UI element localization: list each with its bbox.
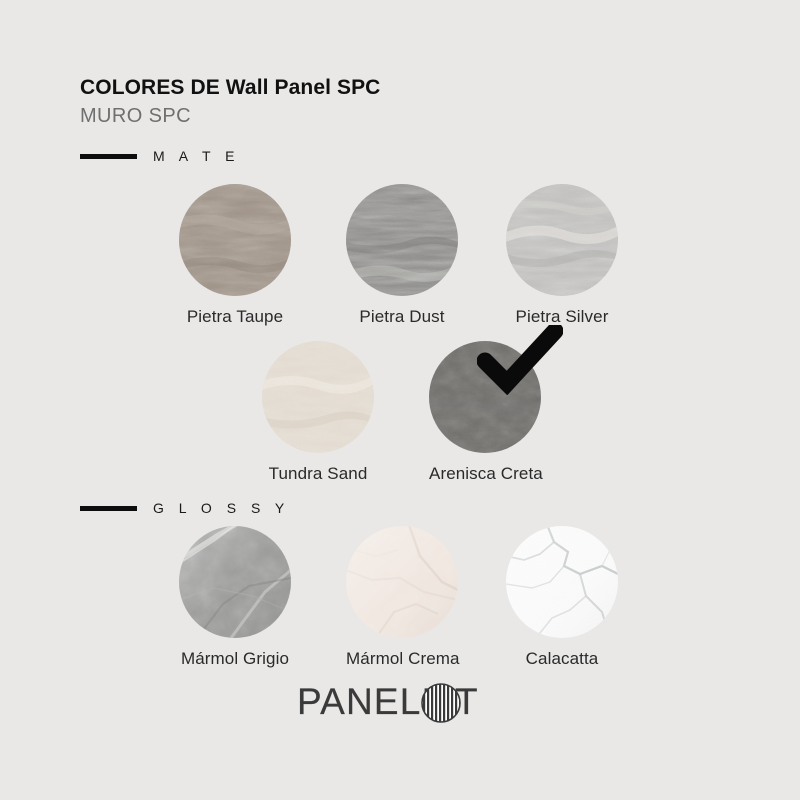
swatch-tundra-sand[interactable]: Tundra Sand (262, 341, 374, 484)
swatch-pietra-silver[interactable]: Pietra Silver (506, 184, 618, 327)
swatch-texture-calacatta[interactable] (506, 526, 618, 638)
swatch-marmol-grigio[interactable]: Mármol Grigio (179, 526, 291, 669)
swatch-marmol-crema[interactable]: Mármol Crema (346, 526, 458, 669)
swatch-texture-tundra-sand[interactable] (262, 341, 374, 453)
paneldot-logo-icon: PANELD T (297, 682, 503, 724)
swatch-disc-wrap[interactable] (346, 184, 458, 296)
swatch-pietra-dust[interactable]: Pietra Dust (346, 184, 458, 327)
swatch-label: Pietra Silver (506, 307, 618, 327)
swatch-label: Tundra Sand (262, 464, 374, 484)
header: COLORES DE Wall Panel SPC MURO SPC (80, 76, 720, 129)
svg-text:T: T (455, 682, 479, 722)
swatch-disc-wrap[interactable] (262, 341, 374, 453)
swatch-disc-wrap[interactable] (179, 184, 291, 296)
swatch-texture-pietra-silver[interactable] (506, 184, 618, 296)
brand-logo: PANELD T (0, 682, 800, 724)
swatch-label: Arenisca Creta (429, 464, 541, 484)
swatch-pietra-taupe[interactable]: Pietra Taupe (179, 184, 291, 327)
rule-bar-icon (80, 154, 137, 159)
color-catalog-page: COLORES DE Wall Panel SPC MURO SPC M A T… (0, 0, 800, 800)
swatch-texture-marmol-crema[interactable] (346, 526, 458, 638)
section-label-mate: M A T E (153, 148, 240, 164)
swatch-label: Mármol Crema (346, 649, 458, 669)
swatch-calacatta[interactable]: Calacatta (506, 526, 618, 669)
swatch-label: Pietra Dust (346, 307, 458, 327)
section-heading-mate: M A T E (80, 148, 240, 164)
rule-bar-icon (80, 506, 137, 511)
swatch-disc-wrap[interactable] (346, 526, 458, 638)
swatch-texture-marmol-grigio[interactable] (179, 526, 291, 638)
section-label-glossy: G L O S S Y (153, 500, 290, 516)
page-title: COLORES DE Wall Panel SPC (80, 76, 720, 100)
swatch-disc-wrap[interactable] (179, 526, 291, 638)
swatch-texture-arenisca-creta[interactable] (429, 341, 541, 453)
swatch-disc-wrap[interactable] (506, 184, 618, 296)
swatch-disc-wrap[interactable] (506, 526, 618, 638)
swatch-label: Pietra Taupe (179, 307, 291, 327)
swatch-label: Mármol Grigio (179, 649, 291, 669)
swatch-texture-pietra-taupe[interactable] (179, 184, 291, 296)
swatch-disc-wrap[interactable] (429, 341, 541, 453)
swatch-arenisca-creta[interactable]: Arenisca Creta (429, 341, 541, 484)
section-heading-glossy: G L O S S Y (80, 500, 290, 516)
swatch-label: Calacatta (506, 649, 618, 669)
page-subtitle: MURO SPC (80, 103, 720, 129)
swatch-texture-pietra-dust[interactable] (346, 184, 458, 296)
